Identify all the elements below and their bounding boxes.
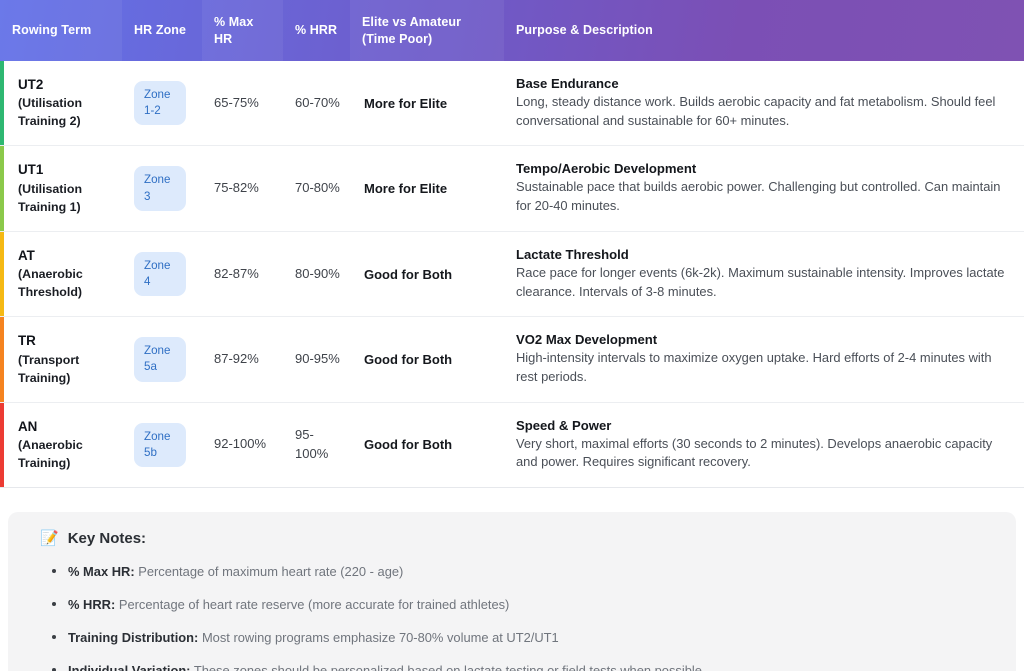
list-item: Training Distribution: Most rowing progr… (52, 629, 994, 647)
cell-purpose-description: VO2 Max Development High-intensity inter… (504, 317, 1024, 402)
memo-icon: 📝 (40, 531, 59, 546)
bullet-icon (52, 569, 56, 573)
note-key: Training Distribution: (68, 630, 198, 645)
term-full-name: (Transport Training) (18, 352, 112, 388)
cell-pct-max-hr: 75-82% (202, 146, 283, 231)
table-row: AN (Anaerobic Training) Zone 5b 92-100% … (0, 402, 1024, 487)
note-value: Percentage of heart rate reserve (more a… (119, 597, 510, 612)
column-header-hr-zone[interactable]: HR Zone (122, 0, 202, 61)
description-title: Tempo/Aerobic Development (516, 161, 1008, 176)
row-accent-bar (0, 61, 4, 145)
cell-hr-zone: Zone 5a (122, 317, 202, 402)
cell-rowing-term: TR (Transport Training) (0, 317, 122, 402)
column-header-pct-max-hr[interactable]: % Max HR (202, 0, 283, 61)
cell-pct-max-hr: 65-75% (202, 61, 283, 146)
row-accent-bar (0, 317, 4, 401)
term-full-name: (Anaerobic Threshold) (18, 266, 112, 302)
column-header-purpose-description[interactable]: Purpose & Description (504, 0, 1024, 61)
term-full-name: (Utilisation Training 2) (18, 95, 112, 131)
cell-elite-vs-amateur: Good for Both (350, 231, 504, 316)
list-item: % Max HR: Percentage of maximum heart ra… (52, 563, 994, 581)
term-code: TR (18, 331, 112, 350)
term-code: UT2 (18, 75, 112, 94)
row-accent-bar (0, 232, 4, 316)
note-value: These zones should be personalized based… (194, 663, 702, 671)
note-key: % HRR: (68, 597, 115, 612)
cell-pct-max-hr: 92-100% (202, 402, 283, 487)
table-header: Rowing Term HR Zone % Max HR % HRR Elite… (0, 0, 1024, 61)
description-title: Speed & Power (516, 418, 1008, 433)
note-key: % Max HR: (68, 564, 135, 579)
row-accent-bar (0, 146, 4, 230)
list-item: % HRR: Percentage of heart rate reserve … (52, 596, 994, 614)
description-title: Lactate Threshold (516, 247, 1008, 262)
note-key: Individual Variation: (68, 663, 190, 671)
column-header-elite-vs-amateur[interactable]: Elite vs Amateur (Time Poor) (350, 0, 504, 61)
zone-badge: Zone 4 (134, 252, 186, 296)
table-row: AT (Anaerobic Threshold) Zone 4 82-87% 8… (0, 231, 1024, 316)
description-body: Very short, maximal efforts (30 seconds … (516, 435, 1008, 473)
cell-rowing-term: UT1 (Utilisation Training 1) (0, 146, 122, 231)
cell-hr-zone: Zone 5b (122, 402, 202, 487)
cell-rowing-term: UT2 (Utilisation Training 2) (0, 61, 122, 146)
description-title: VO2 Max Development (516, 332, 1008, 347)
column-header-pct-hrr[interactable]: % HRR (283, 0, 350, 61)
term-code: AT (18, 246, 112, 265)
key-notes-heading: 📝 Key Notes: (40, 530, 994, 547)
zone-badge: Zone 5b (134, 423, 186, 467)
list-item: Individual Variation: These zones should… (52, 662, 994, 671)
term-full-name: (Utilisation Training 1) (18, 181, 112, 217)
cell-pct-max-hr: 87-92% (202, 317, 283, 402)
heart-rate-zones-table-container: Rowing Term HR Zone % Max HR % HRR Elite… (0, 0, 1024, 488)
bullet-icon (52, 635, 56, 639)
cell-hr-zone: Zone 1-2 (122, 61, 202, 146)
table-row: UT2 (Utilisation Training 2) Zone 1-2 65… (0, 61, 1024, 146)
cell-pct-hrr: 90-95% (283, 317, 350, 402)
zone-badge: Zone 1-2 (134, 81, 186, 125)
cell-hr-zone: Zone 3 (122, 146, 202, 231)
row-accent-bar (0, 403, 4, 487)
table-row: TR (Transport Training) Zone 5a 87-92% 9… (0, 317, 1024, 402)
note-value: Percentage of maximum heart rate (220 - … (138, 564, 403, 579)
table-row: UT1 (Utilisation Training 1) Zone 3 75-8… (0, 146, 1024, 231)
table-body: UT2 (Utilisation Training 2) Zone 1-2 65… (0, 61, 1024, 488)
description-body: High-intensity intervals to maximize oxy… (516, 349, 1008, 387)
cell-elite-vs-amateur: Good for Both (350, 402, 504, 487)
term-code: UT1 (18, 160, 112, 179)
cell-pct-hrr: 60-70% (283, 61, 350, 146)
term-code: AN (18, 417, 112, 436)
cell-pct-hrr: 70-80% (283, 146, 350, 231)
zone-badge: Zone 3 (134, 166, 186, 210)
cell-elite-vs-amateur: Good for Both (350, 317, 504, 402)
heart-rate-zones-table: Rowing Term HR Zone % Max HR % HRR Elite… (0, 0, 1024, 488)
cell-pct-hrr: 80-90% (283, 231, 350, 316)
zone-badge: Zone 5a (134, 337, 186, 381)
page-root: Rowing Term HR Zone % Max HR % HRR Elite… (0, 0, 1024, 671)
key-notes-panel: 📝 Key Notes: % Max HR: Percentage of max… (8, 512, 1016, 671)
cell-purpose-description: Base Endurance Long, steady distance wor… (504, 61, 1024, 146)
description-title: Base Endurance (516, 76, 1008, 91)
cell-elite-vs-amateur: More for Elite (350, 146, 504, 231)
cell-pct-max-hr: 82-87% (202, 231, 283, 316)
cell-purpose-description: Lactate Threshold Race pace for longer e… (504, 231, 1024, 316)
column-header-rowing-term[interactable]: Rowing Term (0, 0, 122, 61)
term-full-name: (Anaerobic Training) (18, 437, 112, 473)
description-body: Race pace for longer events (6k-2k). Max… (516, 264, 1008, 302)
cell-rowing-term: AN (Anaerobic Training) (0, 402, 122, 487)
note-value: Most rowing programs emphasize 70-80% vo… (202, 630, 559, 645)
table-header-row: Rowing Term HR Zone % Max HR % HRR Elite… (0, 0, 1024, 61)
cell-hr-zone: Zone 4 (122, 231, 202, 316)
cell-purpose-description: Speed & Power Very short, maximal effort… (504, 402, 1024, 487)
cell-purpose-description: Tempo/Aerobic Development Sustainable pa… (504, 146, 1024, 231)
cell-pct-hrr: 95-100% (283, 402, 350, 487)
cell-rowing-term: AT (Anaerobic Threshold) (0, 231, 122, 316)
description-body: Sustainable pace that builds aerobic pow… (516, 178, 1008, 216)
key-notes-list: % Max HR: Percentage of maximum heart ra… (30, 563, 994, 671)
key-notes-title-text: Key Notes: (68, 530, 146, 547)
description-body: Long, steady distance work. Builds aerob… (516, 93, 1008, 131)
bullet-icon (52, 602, 56, 606)
cell-elite-vs-amateur: More for Elite (350, 61, 504, 146)
